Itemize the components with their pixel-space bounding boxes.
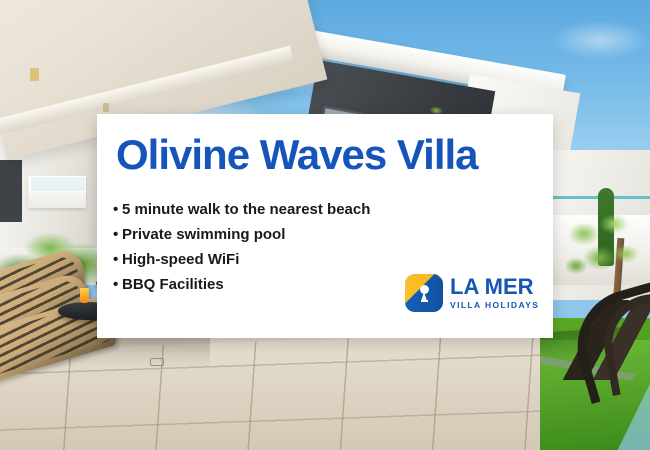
bullet-glyph: •: [113, 277, 122, 292]
list-item: •Private swimming pool: [113, 227, 370, 242]
canopy-light: [30, 68, 39, 81]
brand-name: LA MER: [450, 276, 539, 298]
list-item: •5 minute walk to the nearest beach: [113, 202, 370, 217]
list-item: •High-speed WiFi: [113, 252, 370, 267]
feature-label: BBQ Facilities: [122, 276, 224, 293]
bullet-glyph: •: [113, 227, 122, 242]
keyhole-base: [421, 300, 428, 302]
feature-label: 5 minute walk to the nearest beach: [122, 201, 370, 218]
juice-glass: [80, 288, 89, 303]
patio-drain: [150, 358, 164, 366]
canopy-light-secondary: [103, 103, 109, 112]
keyhole-icon: [405, 274, 443, 312]
brand-logo: LA MER VILLA HOLIDAYS: [405, 270, 545, 316]
feature-label: High-speed WiFi: [122, 251, 239, 268]
brand-wordmark: LA MER VILLA HOLIDAYS: [450, 276, 539, 310]
bullet-glyph: •: [113, 252, 122, 267]
brand-tagline: VILLA HOLIDAYS: [450, 301, 539, 310]
garden-tree: [560, 204, 644, 300]
bullet-glyph: •: [113, 202, 122, 217]
page-title: Olivine Waves Villa: [116, 134, 478, 176]
balcony-railing: [30, 176, 86, 192]
features-list: •5 minute walk to the nearest beach •Pri…: [113, 202, 370, 302]
villa-promo-poster: Olivine Waves Villa •5 minute walk to th…: [0, 0, 650, 450]
list-item: •BBQ Facilities: [113, 277, 370, 292]
info-card: Olivine Waves Villa •5 minute walk to th…: [97, 114, 553, 338]
left-building-door: [0, 160, 22, 222]
feature-label: Private swimming pool: [122, 226, 285, 243]
